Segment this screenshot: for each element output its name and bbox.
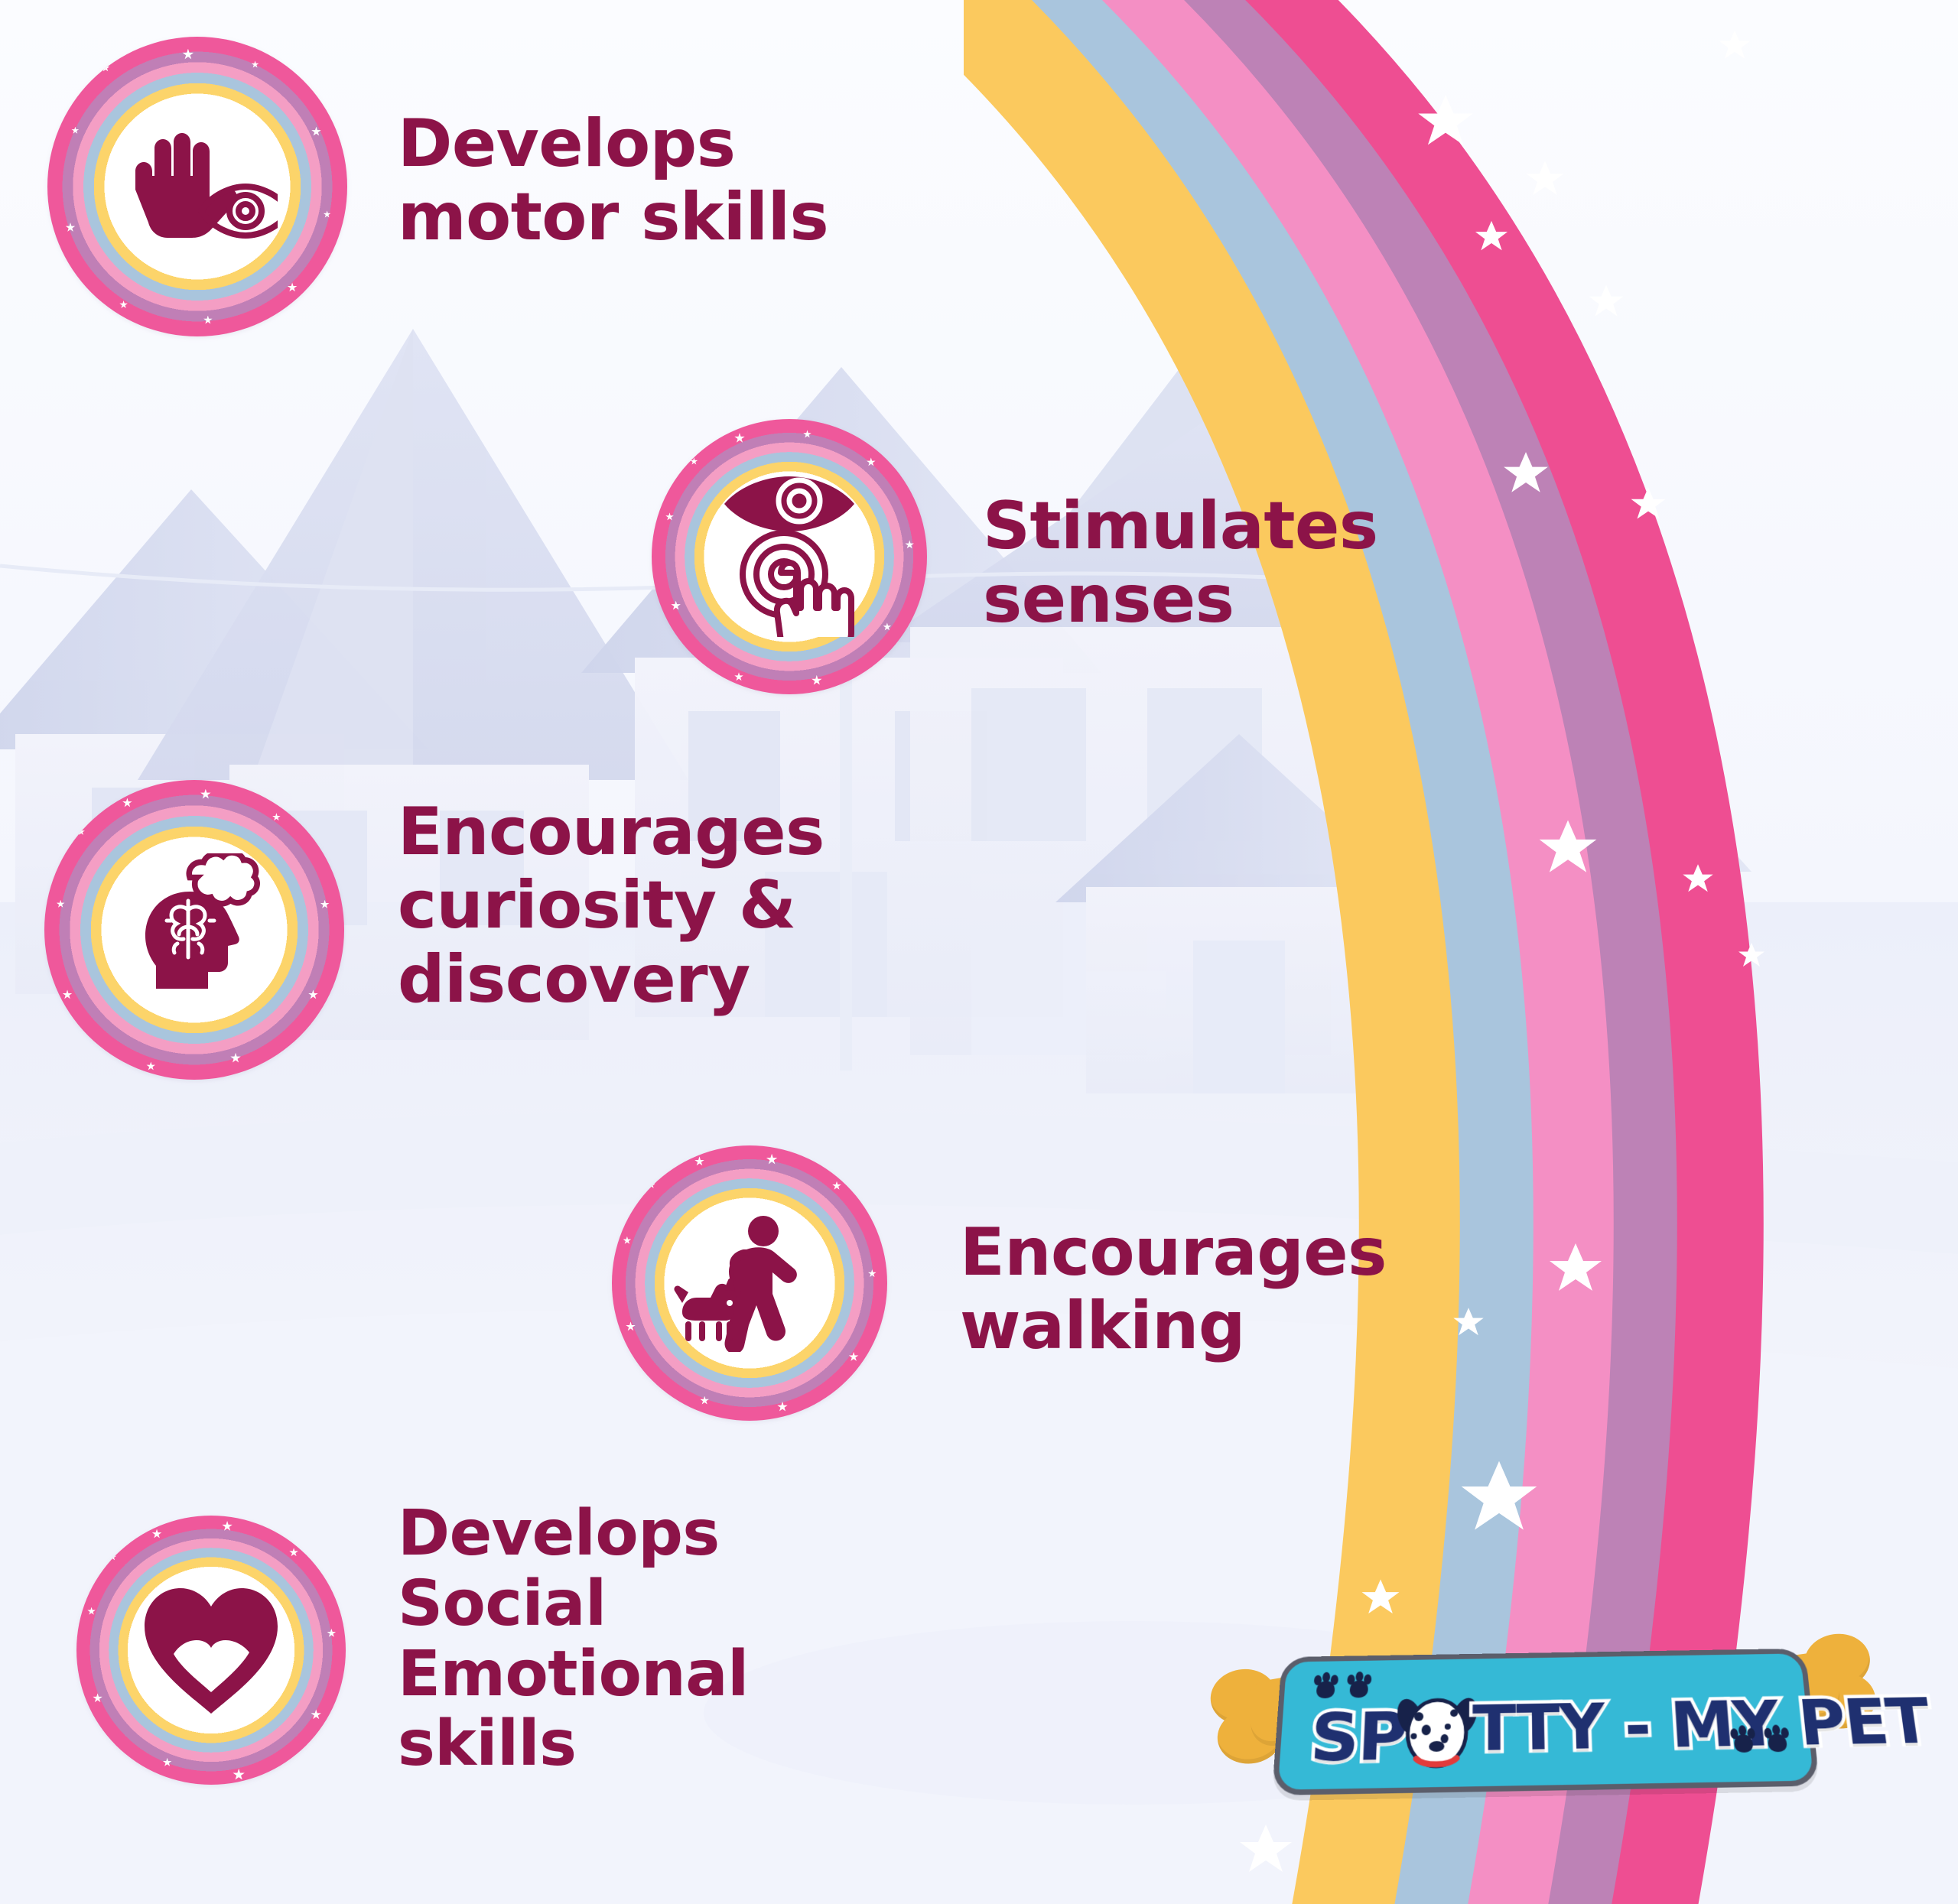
logo-banner[interactable]: SP TTY - MY PET bbox=[1272, 1649, 1820, 1795]
caption-curiosity-discovery: Encourages curiosity & discovery bbox=[398, 795, 825, 1016]
poster-canvas: Develops motor skills bbox=[0, 0, 1958, 1904]
badge-curiosity-discovery[interactable] bbox=[44, 780, 344, 1080]
eye-and-touch-icon bbox=[717, 476, 862, 637]
badge-social-emotional[interactable] bbox=[76, 1516, 346, 1785]
paw-print-icon bbox=[1727, 1724, 1799, 1769]
caption-stimulates-senses: Stimulates senses bbox=[983, 489, 1378, 637]
row-motor-skills: Develops motor skills bbox=[398, 107, 828, 255]
dalmatian-face-icon bbox=[1396, 1694, 1478, 1779]
brand-logo[interactable]: SP TTY - MY PET bbox=[1224, 1633, 1859, 1808]
badge-motor-skills[interactable] bbox=[47, 37, 347, 336]
heart-in-heart-icon bbox=[138, 1585, 284, 1715]
row-curiosity-discovery: Encourages curiosity & discovery bbox=[398, 795, 825, 1016]
head-brain-thought-icon bbox=[118, 853, 271, 1006]
logo-text-before-dog: SP bbox=[1308, 1698, 1407, 1777]
logo-text-after-dog: TTY - MY PET bbox=[1472, 1685, 1934, 1766]
caption-social-emotional: Develops Social Emotional skills bbox=[398, 1499, 749, 1779]
row-encourages-walking: Encourages walking bbox=[960, 1216, 1387, 1363]
badge-encourages-walking[interactable] bbox=[612, 1145, 887, 1421]
caption-encourages-walking: Encourages walking bbox=[960, 1216, 1387, 1363]
hand-and-eye-icon bbox=[117, 125, 278, 248]
caption-motor-skills: Develops motor skills bbox=[398, 107, 828, 255]
person-walking-dog-icon bbox=[673, 1214, 826, 1352]
row-stimulates-senses: Stimulates senses bbox=[983, 489, 1378, 637]
badge-stimulates-senses[interactable] bbox=[652, 419, 927, 694]
row-social-emotional: Develops Social Emotional skills bbox=[398, 1499, 749, 1779]
